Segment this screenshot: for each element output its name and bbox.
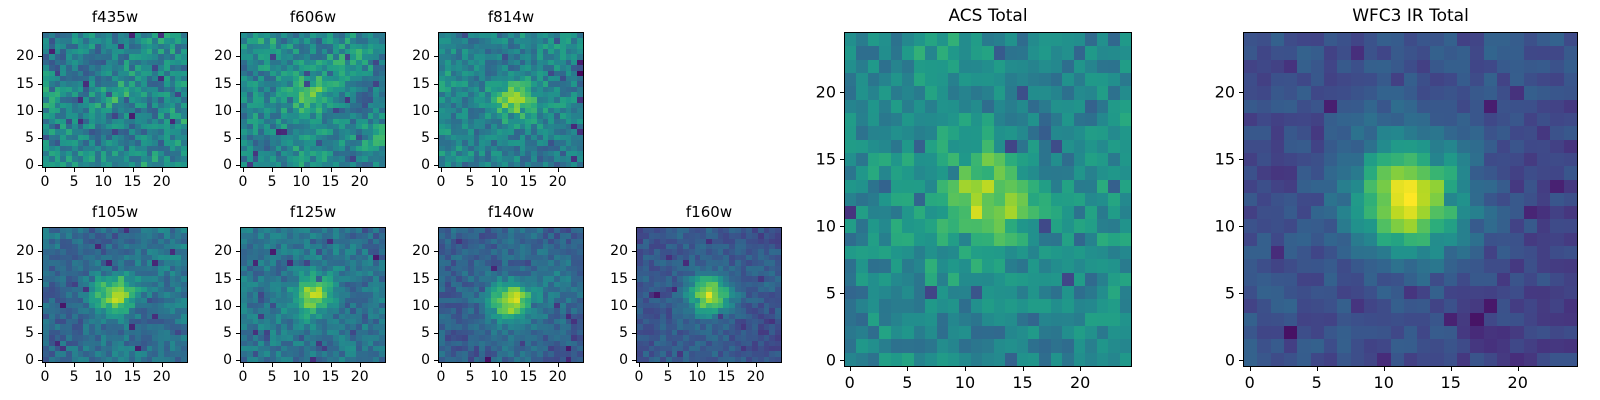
figure-canvas: f435w0510152005101520f606w05101520051015… xyxy=(0,0,1600,400)
